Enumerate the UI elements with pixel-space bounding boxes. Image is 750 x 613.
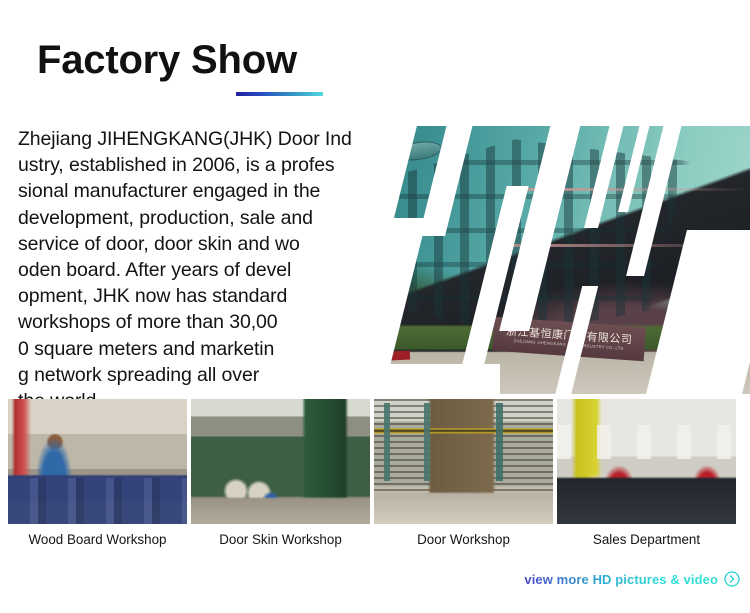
factory-show-page: Factory Show 浙江基恒康门业有限公司 ZHEJIANG JIHENG… [0, 0, 750, 613]
gallery-thumb-wood-board-workshop[interactable] [8, 399, 187, 524]
view-more-label: view more HD pictures & video [524, 572, 718, 587]
chevron-right-circle-icon[interactable] [724, 571, 740, 587]
title-underline-accent [236, 92, 323, 96]
gallery-caption: Wood Board Workshop [8, 530, 187, 550]
page-title: Factory Show [37, 36, 297, 84]
gallery-caption-row: Wood Board Workshop Door Skin Workshop D… [8, 530, 742, 550]
gallery-thumb-door-workshop[interactable] [374, 399, 553, 524]
gallery-thumbnail-row [8, 399, 742, 524]
gallery-caption: Door Workshop [374, 530, 553, 550]
view-more-hd-pictures-link[interactable]: view more HD pictures & video [524, 571, 740, 587]
gallery-thumb-sales-department[interactable] [557, 399, 736, 524]
gallery-caption: Sales Department [557, 530, 736, 550]
gallery-caption: Door Skin Workshop [191, 530, 370, 550]
gallery-thumb-door-skin-workshop[interactable] [191, 399, 370, 524]
intro-paragraph: Zhejiang JIHENGKANG(JHK) Door Ind ustry,… [18, 126, 418, 414]
